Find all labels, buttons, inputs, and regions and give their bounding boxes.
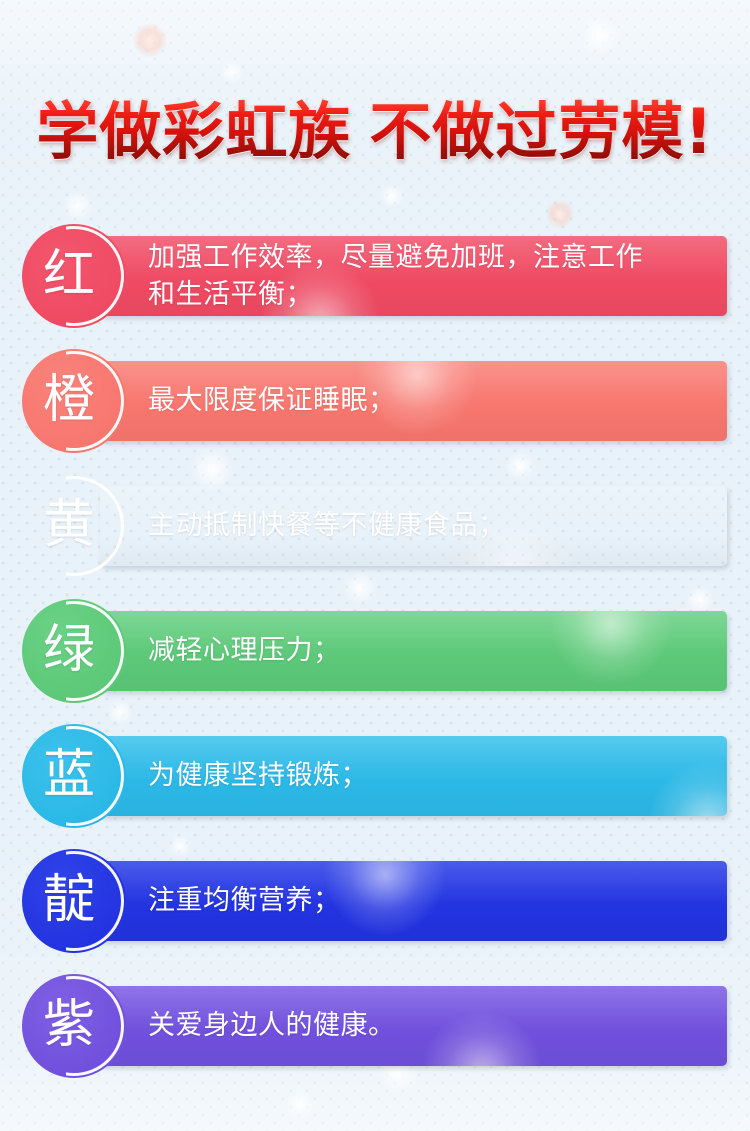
color-badge[interactable]: 蓝 <box>22 724 126 828</box>
rainbow-row[interactable]: 注重均衡营养；靛 <box>0 849 750 953</box>
row-bar: 减轻心理压力； <box>100 611 727 691</box>
badge-character: 蓝 <box>22 724 126 828</box>
title-part-1: 学做彩虹族 <box>36 95 351 168</box>
color-badge[interactable]: 绿 <box>22 599 126 703</box>
color-badge[interactable]: 橙 <box>22 349 126 453</box>
badge-character: 绿 <box>22 599 126 703</box>
title-part-2: 不做过劳模! <box>369 95 713 168</box>
color-badge[interactable]: 红 <box>22 224 126 328</box>
row-text: 加强工作效率，尽量避免加班，注意工作 和生活平衡； <box>148 239 711 313</box>
row-text: 主动抵制快餐等不健康食品； <box>148 508 711 544</box>
row-bar: 主动抵制快餐等不健康食品； <box>100 486 727 566</box>
sparkle-0 <box>133 23 167 57</box>
badge-character: 红 <box>22 224 126 328</box>
rainbow-rows: 加强工作效率，尽量避免加班，注意工作 和生活平衡；红最大限度保证睡眠；橙主动抵制… <box>0 224 750 1078</box>
row-text: 关爱身边人的健康。 <box>148 1008 711 1044</box>
rainbow-row[interactable]: 加强工作效率，尽量避免加班，注意工作 和生活平衡；红 <box>0 224 750 328</box>
rainbow-row[interactable]: 减轻心理压力；绿 <box>0 599 750 703</box>
rainbow-row[interactable]: 主动抵制快餐等不健康食品；黄 <box>0 474 750 578</box>
poster-root: 学做彩虹族不做过劳模! 加强工作效率，尽量避免加班，注意工作 和生活平衡；红最大… <box>0 0 750 1131</box>
poster-title: 学做彩虹族不做过劳模! <box>36 96 713 168</box>
badge-character: 黄 <box>22 474 126 578</box>
color-badge[interactable]: 紫 <box>22 974 126 1078</box>
badge-character: 紫 <box>22 974 126 1078</box>
row-bar: 注重均衡营养； <box>100 861 727 941</box>
row-bar: 最大限度保证睡眠； <box>100 361 727 441</box>
rainbow-row[interactable]: 最大限度保证睡眠；橙 <box>0 349 750 453</box>
row-text: 最大限度保证睡眠； <box>148 383 711 419</box>
row-text: 减轻心理压力； <box>148 633 711 669</box>
rainbow-row[interactable]: 关爱身边人的健康。紫 <box>0 974 750 1078</box>
row-text: 为健康坚持锻炼； <box>148 758 711 794</box>
badge-character: 靛 <box>22 849 126 953</box>
row-bar: 关爱身边人的健康。 <box>100 986 727 1066</box>
poster-title-container: 学做彩虹族不做过劳模! <box>0 96 750 168</box>
sparkle-5 <box>380 184 404 208</box>
color-badge[interactable]: 黄 <box>22 474 126 578</box>
sparkle-2 <box>580 16 620 56</box>
row-text: 注重均衡营养； <box>148 883 711 919</box>
row-bar: 加强工作效率，尽量避免加班，注意工作 和生活平衡； <box>100 236 727 316</box>
rainbow-row[interactable]: 为健康坚持锻炼；蓝 <box>0 724 750 828</box>
sparkle-1 <box>221 61 243 83</box>
sparkle-18 <box>285 1089 315 1119</box>
badge-character: 橙 <box>22 349 126 453</box>
row-bar: 为健康坚持锻炼； <box>100 736 727 816</box>
sparkle-4 <box>63 191 93 221</box>
color-badge[interactable]: 靛 <box>22 849 126 953</box>
